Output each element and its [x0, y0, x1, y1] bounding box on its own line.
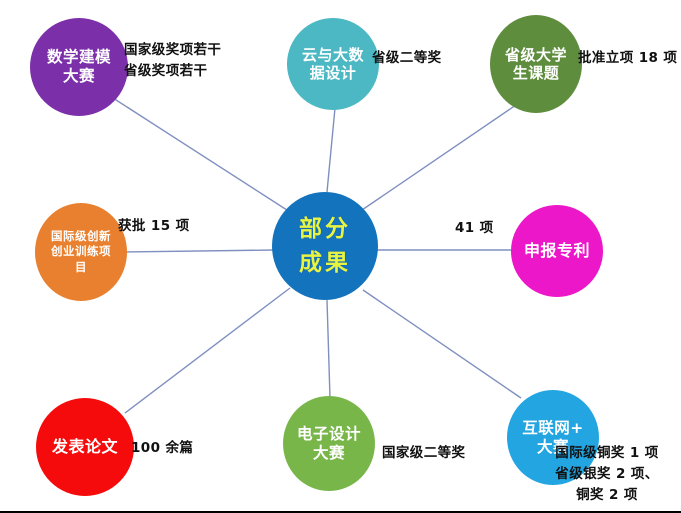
connector-math-modeling	[113, 98, 290, 212]
center-node-label: 部分 成果	[295, 212, 355, 281]
node-cloud-bigdata-design-label: 云与大数 据设计	[298, 46, 368, 83]
annotation-published-papers: 100 余篇	[131, 438, 241, 459]
node-math-modeling[interactable]: 数学建模 大赛	[30, 18, 128, 116]
annotation-electronic-design: 国家级二等奖	[382, 443, 502, 464]
connector-provincial	[362, 105, 516, 210]
center-node-partial-results[interactable]: 部分 成果	[272, 192, 378, 300]
node-innovation-training[interactable]: 国际级创新 创业训练项 目	[35, 203, 127, 301]
node-math-modeling-label: 数学建模 大赛	[43, 48, 115, 86]
connector-innovation	[122, 250, 274, 252]
node-provincial-student-project-label: 省级大学 生课题	[501, 46, 571, 83]
node-electronic-design[interactable]: 电子设计 大赛	[283, 396, 375, 491]
node-cloud-bigdata-design[interactable]: 云与大数 据设计	[287, 18, 379, 110]
connector-cloud-bigdata	[327, 108, 335, 192]
annotation-cloud-bigdata-design: 省级二等奖	[372, 48, 492, 69]
node-patent-application-label: 申报专利	[520, 241, 594, 261]
annotation-internet-plus: 国际级铜奖 1 项 省级银奖 2 项、 铜奖 2 项	[532, 443, 681, 506]
node-published-papers[interactable]: 发表论文	[36, 398, 134, 496]
node-published-papers-label: 发表论文	[48, 437, 122, 457]
annotation-provincial-student-project: 批准立项 18 项	[578, 48, 681, 69]
annotation-innovation-training: 获批 15 项	[118, 216, 228, 237]
node-electronic-design-label: 电子设计 大赛	[293, 425, 365, 463]
connector-electronic	[327, 300, 330, 398]
node-provincial-student-project[interactable]: 省级大学 生课题	[490, 15, 582, 113]
connector-internet-plus	[363, 290, 521, 398]
annotation-patent-application: 41 项	[455, 218, 515, 239]
node-innovation-training-label: 国际级创新 创业训练项 目	[47, 229, 115, 276]
diagram-canvas: 部分 成果 数学建模 大赛 国家级奖项若干 省级奖项若干 云与大数 据设计 省级…	[0, 0, 681, 513]
node-patent-application[interactable]: 申报专利	[511, 205, 603, 297]
connector-papers	[125, 288, 290, 413]
annotation-math-modeling: 国家级奖项若干 省级奖项若干	[124, 40, 284, 82]
